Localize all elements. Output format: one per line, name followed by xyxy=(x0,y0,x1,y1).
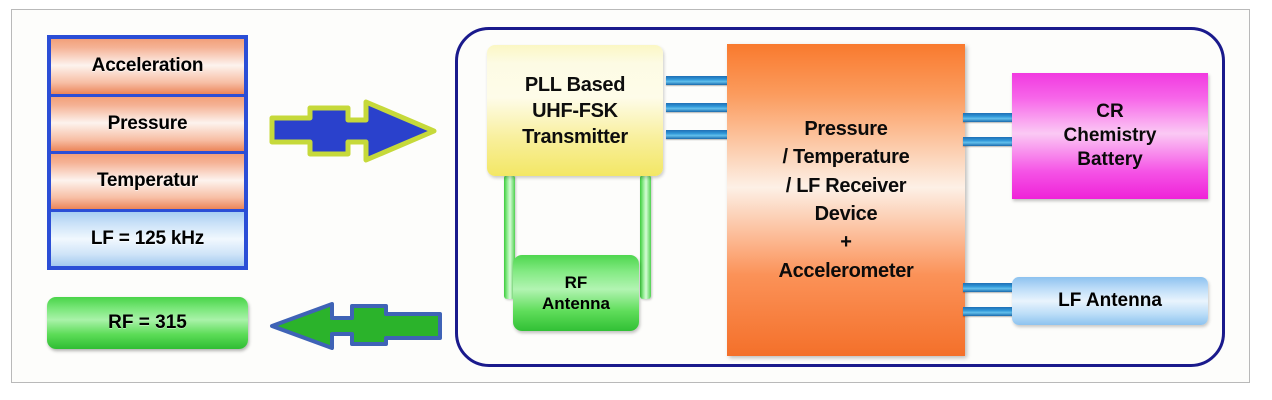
sensor-row-label: Acceleration xyxy=(92,55,204,77)
sensor-row-lf-frequency: LF = 125 kHz xyxy=(51,212,244,267)
sensor-stack: Acceleration Pressure Temperatur LF = 12… xyxy=(47,35,248,270)
lf-antenna-box: LF Antenna xyxy=(1012,277,1208,325)
connector-mcu-battery-1 xyxy=(963,113,1013,122)
connector-mcu-lf-antenna-1 xyxy=(963,283,1013,292)
receiver-device-line: / LF Receiver xyxy=(786,172,907,200)
receiver-device-line: Pressure xyxy=(804,115,887,143)
battery-box: CR Chemistry Battery xyxy=(1012,73,1208,199)
uplink-arrow-icon xyxy=(266,96,446,166)
sensor-row-acceleration: Acceleration xyxy=(51,39,244,94)
pll-transmitter-box: PLL Based UHF-FSK Transmitter xyxy=(487,45,663,176)
rf-antenna-box: RF Antenna xyxy=(513,255,639,331)
rf-antenna-line: Antenna xyxy=(542,293,610,314)
connector-pll-mcu-3 xyxy=(666,130,728,139)
pll-line: UHF-FSK xyxy=(532,98,618,124)
diagram-canvas: Acceleration Pressure Temperatur LF = 12… xyxy=(0,0,1272,400)
sensor-row-temperature: Temperatur xyxy=(51,154,244,209)
receiver-device-line: Device xyxy=(815,200,878,228)
sensor-row-label: Temperatur xyxy=(97,170,198,192)
rf-frequency-box: RF = 315 xyxy=(47,297,248,349)
downlink-arrow-icon xyxy=(266,296,446,356)
lf-antenna-label: LF Antenna xyxy=(1058,290,1162,312)
receiver-device-line: Accelerometer xyxy=(778,257,913,285)
connector-pll-mcu-1 xyxy=(666,76,728,85)
connector-mcu-battery-2 xyxy=(963,137,1013,146)
battery-line: CR xyxy=(1096,100,1123,124)
rf-frequency-label: RF = 315 xyxy=(108,312,187,334)
receiver-device-box: Pressure / Temperature / LF Receiver Dev… xyxy=(727,44,965,356)
sensor-row-label: LF = 125 kHz xyxy=(91,228,204,250)
sensor-row-label: Pressure xyxy=(108,113,188,135)
connector-mcu-lf-antenna-2 xyxy=(963,307,1013,316)
rf-antenna-line: RF xyxy=(565,272,588,293)
sensor-row-pressure: Pressure xyxy=(51,97,244,152)
battery-line: Chemistry xyxy=(1064,124,1157,148)
battery-line: Battery xyxy=(1077,148,1142,172)
receiver-device-line: + xyxy=(840,228,851,256)
pll-line: PLL Based xyxy=(525,72,625,98)
connector-pll-mcu-2 xyxy=(666,103,728,112)
receiver-device-line: / Temperature xyxy=(783,143,910,171)
pll-line: Transmitter xyxy=(522,124,628,150)
rf-antenna-leg-right xyxy=(640,175,651,299)
